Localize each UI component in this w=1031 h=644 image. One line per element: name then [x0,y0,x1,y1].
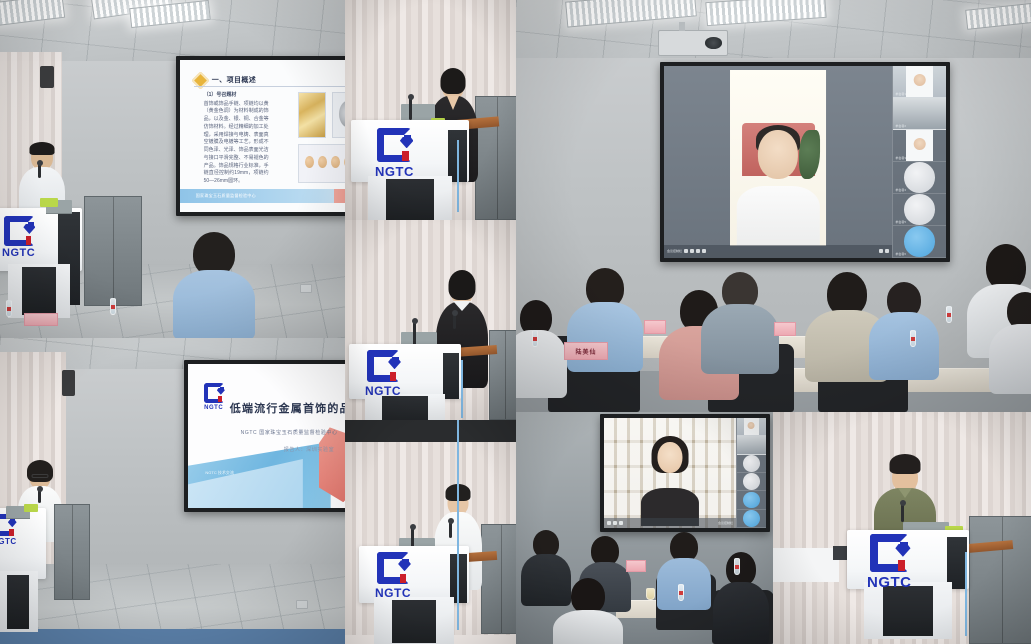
ngtc-logo: NGTC [0,514,17,546]
podium-base [0,571,38,632]
ngtc-logo-text: NGTC [365,385,401,397]
ngtc-logo: NGTC [365,350,401,397]
microphone [453,314,456,329]
green-object [24,504,38,512]
slide-tag: NGTC 技术交流 [205,470,233,476]
slide-header: 一、项目概述 [194,74,256,87]
vc-participant-name: 参会者6 [895,252,906,256]
green-object [40,198,58,207]
vc-participant-thumb[interactable]: 参会者3 [893,130,946,162]
audience-body [989,324,1031,394]
projector-lens-icon [705,37,721,49]
ngtc-red-block [400,574,406,584]
room-scene: NGTC 低端流行金属首饰的品种与检测 NGTC 国家珠宝玉石质量监督检验中心 … [0,338,345,644]
audience-member [700,272,780,372]
audience-body [567,302,643,372]
podium-base [365,394,446,420]
ngtc-logo-text: NGTC [2,248,35,259]
cable [457,420,459,630]
vc-active-speaker-video [730,70,826,247]
vc-participant-name: 参会者1 [895,92,906,96]
vc-main-stage[interactable]: 会议控制栏 [604,418,736,528]
water-bottle [678,584,684,601]
vc-participant-thumb[interactable]: 参会者2 [893,98,946,130]
vc-avatar-icon [743,473,760,490]
vc-participant-thumb[interactable] [737,418,766,436]
name-card [626,560,646,572]
water-bottle [532,330,538,347]
vc-avatar-icon [904,194,934,224]
screen-surface: NGTC 一、项目概述 （1）号召题材 首饰或饰品手链、项链均以黄（黄金色调）为… [180,60,345,212]
audience-member [868,282,940,378]
slide-image-silver-coin [332,92,345,138]
projection-screen: NGTC 低端流行金属首饰的品种与检测 NGTC 国家珠宝玉石质量监督检验中心 … [184,360,345,512]
floor-edge-strip [0,629,345,644]
room-scene: NGTC [345,0,516,220]
equipment-cabinet [969,516,1031,644]
podium-ngtc: NGTC [359,546,469,644]
audience-body [553,610,623,644]
cable [965,552,967,636]
presenter-hair [441,68,466,94]
microphone [38,490,41,503]
photo-collage: NGTC 一、项目概述 （1）号召题材 首饰或饰品手链、项链均以黄（黄金色调）为… [0,0,1031,644]
slide-header-title: 一、项目概述 [212,75,256,85]
audience-body [657,558,711,610]
room-scene: NGTC 一、项目概述 （1）号召题材 首饰或饰品手链、项链均以黄（黄金色调）为… [0,0,345,338]
ngtc-logo-mark [870,534,908,572]
room-scene: 会议控制栏 [516,412,773,644]
photo-panel-podium-speaker-dark-blazer[interactable]: NGTC [345,0,516,220]
slide-project-overview: NGTC 一、项目概述 （1）号召题材 首饰或饰品手链、项链均以黄（黄金色调）为… [180,60,345,212]
wall-speaker [62,370,75,396]
ngtc-logo-text: NGTC [867,575,912,590]
slide-section-label: （1）号召题材 [204,92,269,100]
ngtc-logo: NGTC [867,534,912,590]
vc-avatar-icon [904,226,934,256]
audience-member [656,532,712,606]
video-conference-app: 会议控制栏 [664,66,946,258]
audience-body [516,330,567,398]
vc-participant-thumb[interactable] [737,455,766,473]
audience-body [869,312,939,380]
ngtc-logo-text: NGTC [375,165,414,178]
slide-main-title: 低端流行金属首饰的品种与检测 [230,400,345,416]
vc-share-icon[interactable] [619,521,623,525]
vc-more-icon[interactable] [879,249,883,253]
ngtc-logo-mark [204,383,224,403]
vc-camera-icon[interactable] [690,249,694,253]
projection-screen: 会议控制栏 [660,62,950,262]
ngtc-logo: NGTC [375,128,414,178]
slide-ngtc-logo: NGTC [204,383,224,411]
podium-base [374,597,453,644]
wall-speaker [40,66,54,88]
screen-surface: 会议控制栏 [664,66,946,258]
vc-participant-sidebar[interactable]: 参会者1 参会者2 参会者3 参会者4 [892,66,946,258]
podium-base [8,264,70,318]
vc-participant-name: 参会者2 [895,124,906,128]
name-card: 陆美仙 [564,342,608,360]
slide-date-line: 报告人：深圳实验室 [284,446,334,453]
projection-screen: NGTC 一、项目概述 （1）号召题材 首饰或饰品手链、项链均以黄（黄金色调）为… [176,56,345,216]
cable [457,140,459,212]
vc-participant-thumb[interactable]: 参会者5 [893,194,946,226]
presenter-glasses [32,474,49,478]
vc-speaker-shirt [737,186,819,246]
podium-base [368,176,453,220]
vc-mic-icon[interactable] [684,249,688,253]
room-scene: NGTC [345,220,516,420]
podium-ngtc: NGTC [351,120,469,220]
equipment-cabinet [84,196,142,306]
audience-member [552,578,624,644]
podium-ngtc: NGTC [847,530,969,644]
photo-panel-lecture-hall-male-presenter[interactable]: NGTC 一、项目概述 （1）号召题材 首饰或饰品手链、项链均以黄（黄金色调）为… [0,0,345,338]
water-bottle [110,298,116,315]
vc-leave-icon[interactable] [885,249,889,253]
vc-avatar-icon [743,510,760,527]
wall-outlet [296,600,308,609]
water-bottle [6,300,12,317]
ngtc-red-block [218,396,222,402]
photo-panel-podium-speaker-short-hair[interactable]: NGTC [345,420,516,644]
water-bottle [734,558,740,575]
lectern-cabinet [54,504,90,600]
equipment-cabinet [481,524,516,634]
photo-panel-podium-speaker-olive-shirt[interactable]: NGTC [773,412,1031,644]
equipment-cabinet [475,96,516,220]
bead-row-photo [305,156,345,168]
microphone [901,504,904,522]
ngtc-logo-mark [367,350,399,382]
slide-footer-accent [334,189,345,203]
name-card [774,322,796,336]
projection-screen: 会议控制栏 [600,414,770,532]
ngtc-logo-mark [4,216,34,246]
ngtc-red-block [9,529,13,536]
presenter-hair [27,460,53,482]
ngtc-logo-mark [377,552,409,584]
vc-toolbar-label: 会议控制栏 [718,521,733,525]
vc-share-icon[interactable] [696,249,700,253]
audience-body [173,270,255,338]
room-scene: NGTC [345,420,516,644]
vc-main-stage[interactable]: 会议控制栏 [664,66,892,258]
slide-subtitle: NGTC 国家珠宝玉石质量监督检验中心 [241,429,338,436]
room-scene: NGTC [773,412,1031,644]
photo-panel-podium-speaker-black-polo[interactable]: NGTC [345,220,516,420]
ngtc-red-block [402,151,408,161]
room-scene: 会议控制栏 [516,0,1031,412]
vc-participants-icon[interactable] [702,249,706,253]
vc-participant-thumb[interactable] [737,491,766,509]
audience-member [516,300,568,396]
ngtc-red-block [898,560,905,571]
ngtc-logo: NGTC [2,216,35,259]
microphone-stand [409,98,412,120]
screen-surface: 会议控制栏 [604,418,766,528]
vc-avatar-icon [743,492,760,509]
podium-side-panel [443,353,459,399]
vc-participant-thumb[interactable]: 参会者4 [893,162,946,194]
audience-head [571,578,605,614]
name-card [644,320,666,334]
vc-participant-video [906,66,933,98]
ngtc-logo: NGTC [375,552,411,599]
microphone [38,164,41,178]
vc-speaker-head [657,442,682,473]
gold-bar-photo [299,93,325,137]
cable [461,360,463,418]
slide-footer-text: 国家珠宝玉石质量监督检验中心 [196,193,256,199]
ngtc-logo-text: NGTC [375,587,411,599]
name-card-text: 陆美仙 [575,347,596,356]
ceiling-projector [658,30,728,56]
name-card [24,313,58,326]
vc-avatar-icon [904,162,934,192]
audience-head [726,552,756,586]
slide-divider [194,86,345,87]
audience-member [712,552,770,644]
water-bottle [946,306,952,323]
vc-participant-thumb[interactable] [737,473,766,491]
dark-top-band [345,420,516,442]
vc-participant-sidebar[interactable] [736,418,766,528]
vc-participant-name: 参会者4 [895,188,906,192]
water-bottle [910,330,916,347]
drink-cup [646,588,655,600]
wall-panel [773,548,839,582]
ngtc-logo-text: NGTC [0,538,17,546]
vc-mic-icon[interactable] [607,521,611,525]
podium-ngtc: NGTC [0,208,82,316]
vc-toolbar[interactable]: 会议控制栏 [664,245,892,258]
photo-panel-auditorium-video-conference-male-speaker[interactable]: 会议控制栏 [516,0,1031,412]
vc-participant-thumb[interactable]: 参会者1 [893,66,946,98]
ngtc-red-block [26,236,32,245]
equipment-cabinet [489,330,516,420]
audience-member [988,292,1031,392]
presenter-hair [890,454,921,474]
microphone [449,522,452,538]
vc-speaker-head [758,130,798,179]
vc-participant-thumb[interactable] [737,436,766,454]
ngtc-red-block [390,372,396,382]
slide-body-text: （1）号召题材 首饰或饰品手链、项链均以黄（黄金色调）为材料制成的饰品，以及金、… [204,92,269,186]
audience-member [172,232,256,332]
photo-panel-lecture-hall-female-presenter-title-slide[interactable]: NGTC 低端流行金属首饰的品种与检测 NGTC 国家珠宝玉石质量监督检验中心 … [0,338,345,644]
vc-participant-name: 参会者3 [895,156,906,160]
vc-toolbar-label: 会议控制栏 [667,249,682,253]
vc-participant-thumb[interactable]: 参会者6 [893,226,946,258]
vc-participant-name: 参会者5 [895,220,906,224]
ngtc-logo-text: NGTC [204,405,223,411]
slide-footer-bar: 国家珠宝玉石质量监督检验中心 [180,189,345,203]
vc-participant-video [906,130,933,162]
slide-image-gold-bar [298,92,326,138]
vc-camera-icon[interactable] [613,521,617,525]
screen-surface: NGTC 低端流行金属首饰的品种与检测 NGTC 国家珠宝玉石质量监督检验中心 … [188,364,345,508]
slide-image-bead-row [298,144,345,184]
slide-title-page: NGTC 低端流行金属首饰的品种与检测 NGTC 国家珠宝玉石质量监督检验中心 … [188,364,345,508]
podium-side-panel [947,537,967,589]
video-conference-app: 会议控制栏 [604,418,766,528]
wall-outlet [300,284,312,293]
vc-participant-video [744,418,759,436]
presenter-hair [449,270,476,300]
vc-toolbar[interactable]: 会议控制栏 [604,518,736,528]
vc-avatar-icon [743,455,760,472]
vc-participant-thumb[interactable] [737,510,766,528]
slide-paragraph: 首饰或饰品手链、项链均以黄（黄金色调）为材料制成的饰品，以及金、银、铜、合金等仿… [204,101,269,185]
audience-body [701,304,779,374]
audience-body [713,582,769,644]
podium-ngtc: NGTC [349,344,461,420]
ngtc-logo-mark [377,128,411,162]
presenter-hair [30,142,55,155]
podium-ngtc: NGTC [0,508,46,630]
photo-panel-auditorium-video-conference-female-speaker[interactable]: 会议控制栏 [516,412,773,644]
